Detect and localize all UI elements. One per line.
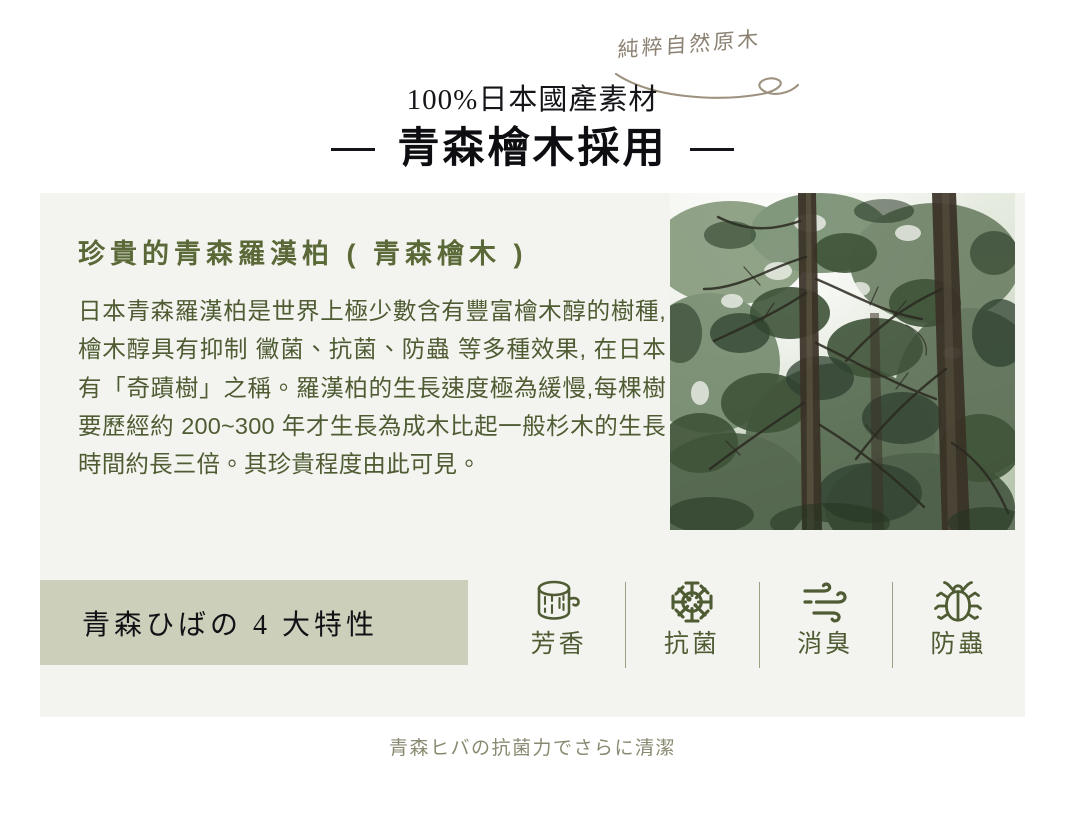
feature-item-insect-repellent[interactable]: 防蟲 [892, 576, 1025, 669]
feature-row: 青森ひばの 4 大特性 [40, 580, 1025, 665]
beetle-icon [932, 576, 984, 628]
section-title: 珍貴的青森羅漢柏 ( 青森檜木 ) [78, 238, 666, 270]
section-body: 日本青森羅漢柏是世界上極少數含有豐富檜木醇的樹種, 檜木醇具有抑制 黴菌、抗菌、… [78, 292, 666, 482]
feature-label: 防蟲 [930, 632, 986, 657]
rule-left-icon [331, 148, 375, 151]
footer-caption: 青森ヒバの抗菌力でさらに清潔 [0, 733, 1065, 760]
feature-items: 芳香 [492, 576, 1025, 669]
copy-block: 珍貴的青森羅漢柏 ( 青森檜木 ) 日本青森羅漢柏是世界上極少數含有豐富檜木醇的… [78, 238, 666, 483]
wind-icon [797, 576, 853, 628]
forest-photo-icon [670, 193, 1015, 530]
log-icon [533, 576, 585, 628]
page-title: 青森檜木採用 [397, 128, 667, 170]
feature-item-deodorize[interactable]: 消臭 [759, 576, 892, 669]
feature-item-antibacterial[interactable]: 抗菌 [625, 576, 758, 669]
header: 純粹自然原木 100%日本國產素材 青森檜木採用 [0, 0, 1065, 193]
feature-band-label: 青森ひばの 4 大特性 [82, 603, 378, 643]
feature-label: 抗菌 [664, 632, 720, 657]
header-subtitle: 100%日本國產素材 [0, 86, 1065, 115]
feature-item-fragrance[interactable]: 芳香 [492, 576, 625, 669]
forest-photo [670, 193, 1015, 530]
feature-band: 青森ひばの 4 大特性 [40, 580, 468, 665]
feature-label: 消臭 [797, 632, 853, 657]
content-panel: 珍貴的青森羅漢柏 ( 青森檜木 ) 日本青森羅漢柏是世界上極少數含有豐富檜木醇的… [40, 193, 1025, 717]
infographic-root: 純粹自然原木 100%日本國產素材 青森檜木採用 珍貴的青森羅漢柏 ( 青森檜木… [0, 0, 1065, 818]
rule-right-icon [690, 148, 734, 151]
virus-icon [666, 576, 718, 628]
header-title-row: 青森檜木採用 [0, 128, 1065, 170]
feature-label: 芳香 [531, 632, 587, 657]
script-mark-text: 純粹自然原木 [617, 23, 761, 64]
